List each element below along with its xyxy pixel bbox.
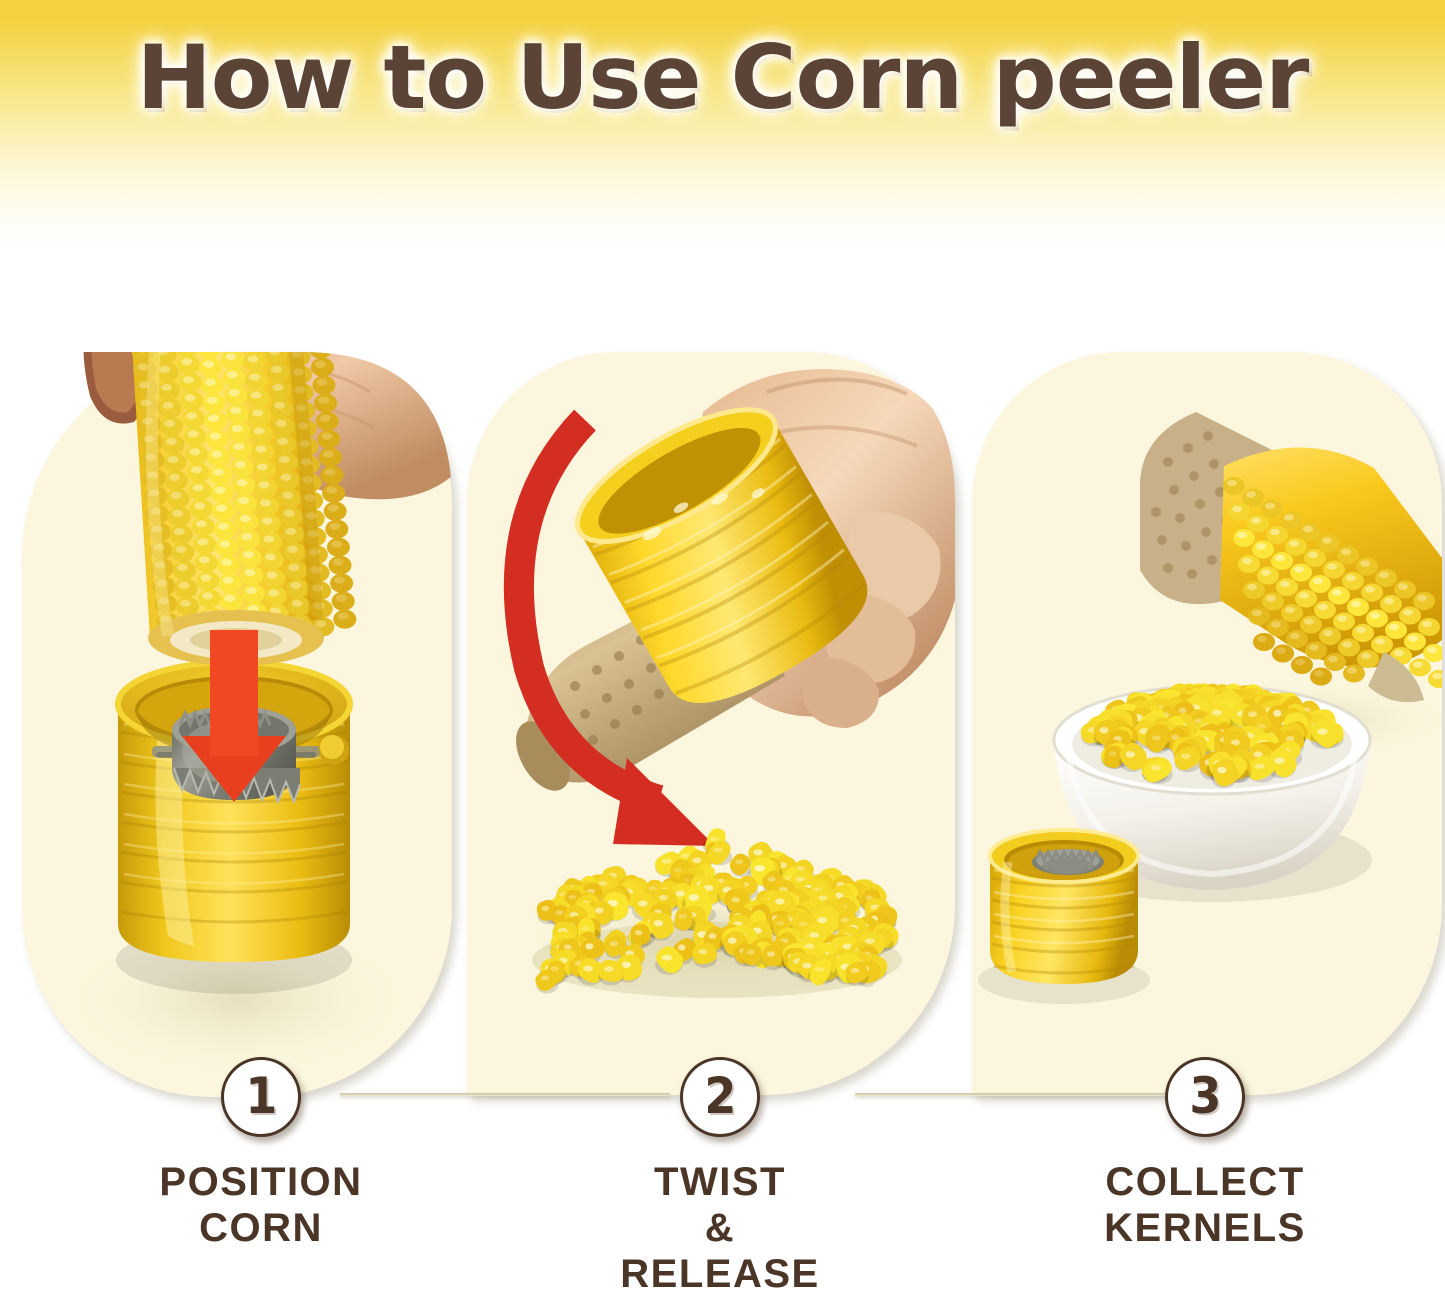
page-title: How to Use Corn peeler [0,26,1445,129]
step-label-3: COLLECT KERNELS [1065,1159,1345,1251]
step-number-2: 2 [704,1071,736,1121]
collect-kernels-illustration [972,300,1442,1100]
twist-release-illustration [467,300,955,1100]
position-corn-illustration [22,300,452,1100]
header-banner: How to Use Corn peeler [0,0,1445,260]
peeler-cup-3 [978,830,1150,1004]
step-number-circle-3: 3 [1165,1057,1245,1137]
step-marker-1: 1 POSITION CORN [121,1057,401,1251]
scene-position-corn [22,300,452,1100]
step-number-circle-1: 1 [221,1057,301,1137]
scene-twist-release [467,300,955,1100]
step-number-3: 3 [1189,1071,1221,1121]
step-label-2: TWIST & RELEASE [580,1159,860,1297]
step-number-circle-2: 2 [680,1057,760,1137]
scene-collect-kernels [972,300,1442,1100]
blade-ring-3 [1032,849,1104,875]
step-label-1: POSITION CORN [121,1159,401,1251]
step-marker-3: 3 COLLECT KERNELS [1065,1057,1345,1251]
step-number-1: 1 [245,1071,277,1121]
step-marker-2: 2 TWIST & RELEASE [580,1057,860,1297]
